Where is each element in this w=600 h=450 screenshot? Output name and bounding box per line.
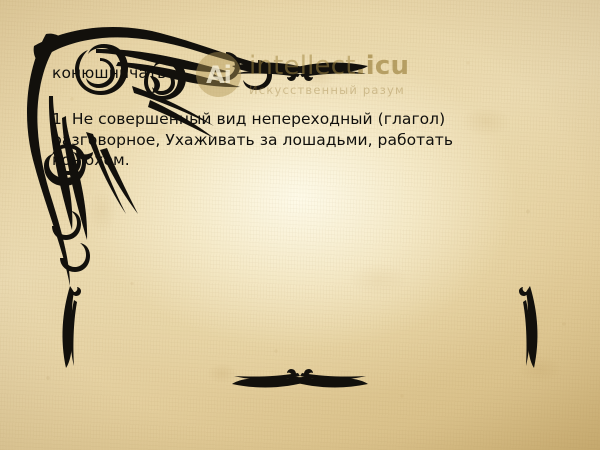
- headword: конюшничать: [52, 64, 532, 83]
- sense-text: Не совершенный вид непереходный (глагол)…: [52, 110, 453, 168]
- entry-content: конюшничать 1. Не совершенный вид непере…: [52, 64, 532, 170]
- border-rail-bottom: [232, 369, 368, 387]
- sense-number: 1.: [52, 110, 67, 128]
- sense-item: 1. Не совершенный вид непереходный (глаг…: [52, 109, 532, 169]
- dictionary-card: Ai intellect.icu Искусственный разум кон…: [0, 0, 600, 450]
- sense-list: 1. Не совершенный вид непереходный (глаг…: [52, 109, 532, 169]
- border-rail-right: [519, 286, 537, 368]
- border-rail-left: [63, 286, 81, 368]
